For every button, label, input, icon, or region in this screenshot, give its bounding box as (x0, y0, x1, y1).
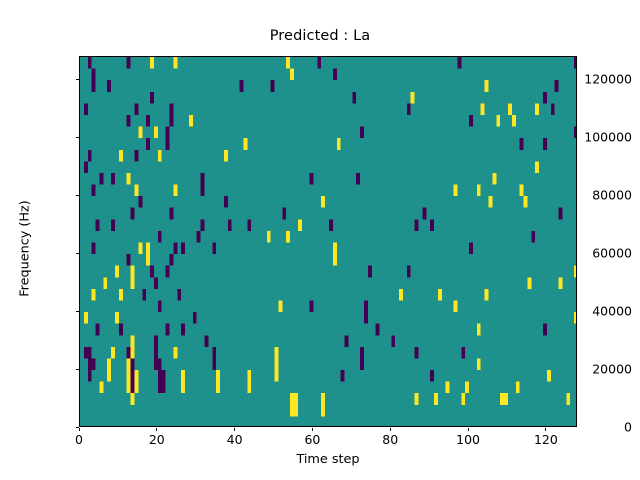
x-tick-label: 80 (382, 432, 398, 447)
y-tick-label: 120000 (584, 72, 632, 87)
x-tick-mark (79, 428, 80, 432)
y-tick-label: 80000 (592, 188, 632, 203)
x-tick-label: 40 (227, 432, 243, 447)
x-tick-label: 60 (304, 432, 320, 447)
x-tick-label: 0 (75, 432, 83, 447)
y-tick-label: 20000 (592, 362, 632, 377)
heatmap-image (80, 57, 577, 427)
y-tick-label: 60000 (592, 246, 632, 261)
x-tick-label: 120 (534, 432, 558, 447)
y-tick-label: 100000 (584, 130, 632, 145)
y-axis-label: Frequency (Hz) (18, 129, 33, 369)
x-tick-mark (390, 428, 391, 432)
y-tick-label: 40000 (592, 304, 632, 319)
x-tick-mark (545, 428, 546, 432)
heatmap-axes[interactable] (79, 56, 577, 427)
x-tick-mark (156, 428, 157, 432)
matplotlib-figure: Predicted : La Frequency (Hz) 0200004000… (0, 0, 640, 480)
x-tick-mark (234, 428, 235, 432)
x-tick-mark (468, 428, 469, 432)
x-tick-label: 100 (456, 432, 480, 447)
y-tick-label: 0 (624, 420, 632, 435)
x-axis-label: Time step (79, 452, 577, 467)
page-title: Predicted : La (0, 28, 640, 44)
x-tick-mark (312, 428, 313, 432)
x-tick-label: 20 (149, 432, 165, 447)
